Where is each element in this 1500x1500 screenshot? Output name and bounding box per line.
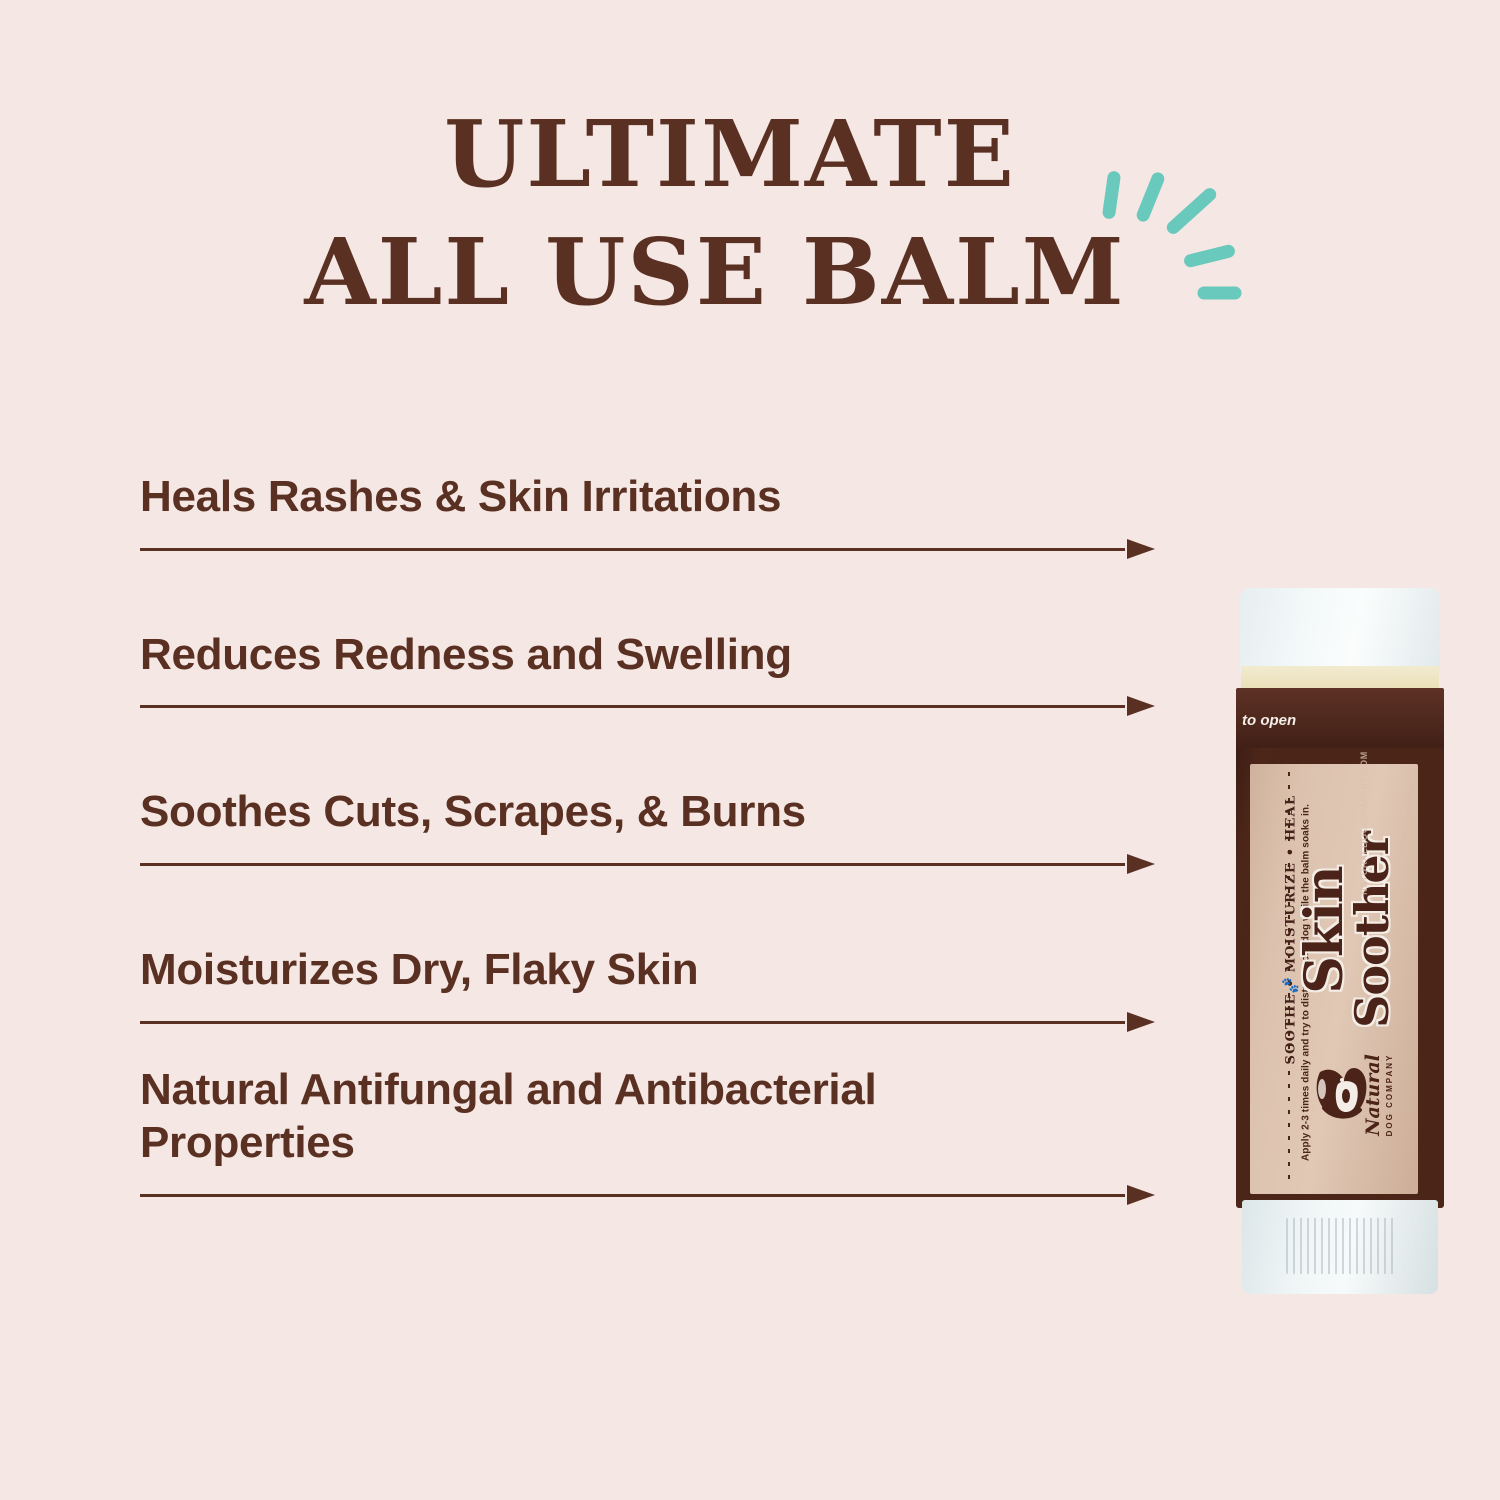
page-title: ULTIMATE ALL USE BALM — [0, 96, 1500, 332]
arrow-shaft — [140, 863, 1125, 866]
burst-ray — [1102, 170, 1122, 219]
website-edge-text: NATURALDOGCOMPANY.COM — [1359, 623, 1369, 1023]
arrow-divider-icon — [140, 1184, 1155, 1206]
benefit-label: Reduces Redness and Swelling — [140, 628, 1155, 682]
brand-name: Natural DOG COMPANY — [1364, 1041, 1394, 1149]
tube-cap — [1240, 588, 1440, 674]
arrow-head — [1127, 1185, 1155, 1205]
arrow-head — [1127, 854, 1155, 874]
burst-ray — [1198, 287, 1242, 300]
product-name-line-1: Skin — [1299, 815, 1351, 1045]
arrow-head — [1127, 1012, 1155, 1032]
arrow-shaft — [140, 705, 1125, 708]
product-name-line-2: Soother — [1349, 815, 1395, 1045]
product-image: to open Apply 2-3 times daily and try to… — [1232, 588, 1448, 1294]
title-line-1: ULTIMATE — [0, 96, 1500, 214]
arrow-head — [1127, 539, 1155, 559]
sparkle-burst-icon — [1085, 155, 1260, 330]
list-item: Moisturizes Dry, Flaky Skin — [140, 943, 1155, 1033]
brand-subtitle-text: DOG COMPANY — [1385, 1041, 1394, 1149]
benefit-label: Soothes Cuts, Scrapes, & Burns — [140, 785, 1155, 839]
benefit-label: Natural Antifungal and Antibacterial Pro… — [140, 1063, 1155, 1170]
title-line-2: ALL USE BALM — [0, 214, 1500, 332]
brand-script-text: Natural — [1364, 1041, 1383, 1149]
arrow-head — [1127, 696, 1155, 716]
grip-ridges — [1286, 1218, 1396, 1274]
arrow-divider-icon — [140, 538, 1155, 560]
infographic-page: ULTIMATE ALL USE BALM Heals Rashes & Ski… — [0, 0, 1500, 1500]
burst-ray — [1164, 185, 1219, 236]
list-item: Soothes Cuts, Scrapes, & Burns — [140, 785, 1155, 875]
open-instruction-text: to open — [1242, 712, 1296, 729]
burst-ray — [1135, 170, 1167, 223]
arrow-divider-icon — [140, 1011, 1155, 1033]
product-label: Apply 2-3 times daily and try to distrac… — [1250, 764, 1418, 1194]
list-item: Heals Rashes & Skin Irritations — [140, 470, 1155, 560]
arrow-shaft — [140, 548, 1125, 551]
tube-base — [1242, 1200, 1438, 1294]
arrow-divider-icon — [140, 695, 1155, 717]
benefit-list: Heals Rashes & Skin Irritations Reduces … — [140, 470, 1155, 1206]
brand-logo: Natural DOG COMPANY — [1306, 1046, 1414, 1162]
benefit-label: Heals Rashes & Skin Irritations — [140, 470, 1155, 524]
arrow-divider-icon — [140, 853, 1155, 875]
benefit-label: Moisturizes Dry, Flaky Skin — [140, 943, 1155, 997]
tube-top-band: to open — [1236, 688, 1444, 754]
arrow-shaft — [140, 1194, 1125, 1197]
burst-ray — [1183, 243, 1237, 268]
product-name: Skin Soother — [1299, 815, 1395, 1045]
list-item: Natural Antifungal and Antibacterial Pro… — [140, 1063, 1155, 1206]
list-item: Reduces Redness and Swelling — [140, 628, 1155, 718]
arrow-shaft — [140, 1021, 1125, 1024]
